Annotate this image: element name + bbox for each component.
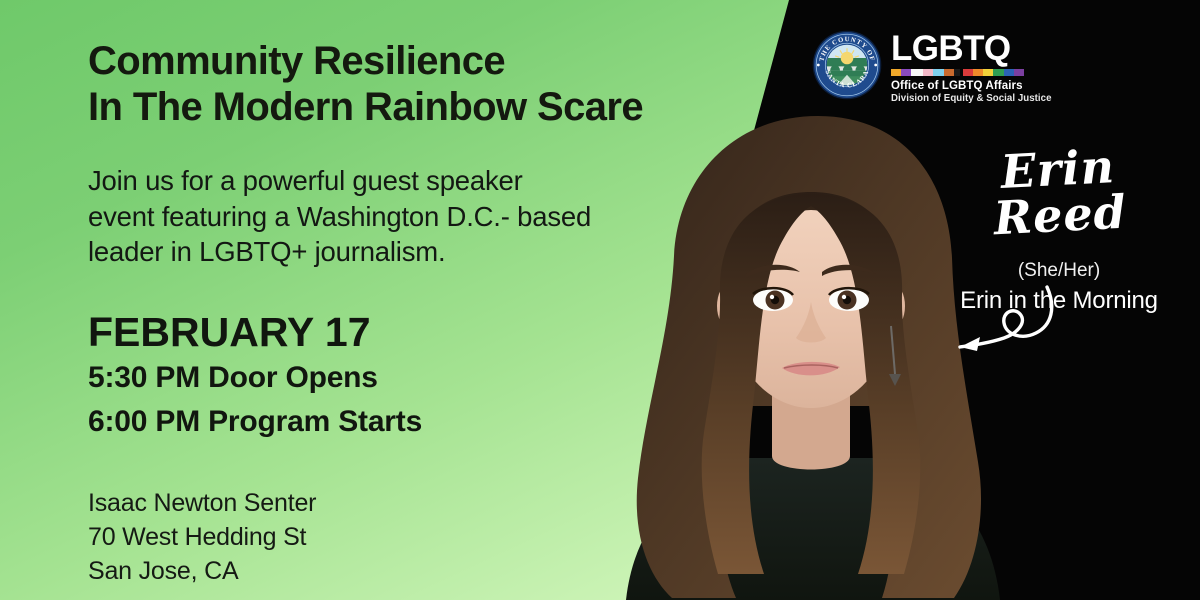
description-line-3: leader in LGBTQ+ journalism. — [88, 236, 445, 267]
swatch-pink — [923, 69, 933, 76]
swatch-yellow — [983, 69, 993, 76]
speaker-eye-left — [753, 288, 793, 311]
swatch-green — [993, 69, 1003, 76]
speaker-pronouns: (She/Her) — [930, 260, 1188, 282]
speaker-eye-right — [829, 288, 869, 311]
swatch-blue — [1004, 69, 1014, 76]
description-line-2: event featuring a Washington D.C.- based — [88, 201, 591, 232]
office-name: Office of LGBTQ Affairs — [891, 80, 1052, 92]
headline-line-1: Community Resilience — [88, 39, 505, 83]
santa-clara-county-seal-icon: THE COUNTY OF SANTA CLARA — [812, 30, 882, 100]
swatch-purple — [901, 69, 911, 76]
curved-arrow-icon — [944, 281, 1074, 367]
swatch-orange-2 — [973, 69, 983, 76]
logo-lockup: THE COUNTY OF SANTA CLARA LGBTQ — [812, 30, 1052, 104]
description-line-1: Join us for a powerful guest speaker — [88, 165, 523, 196]
swatch-brown — [944, 69, 954, 76]
division-name: Division of Equity & Social Justice — [891, 93, 1052, 104]
lgbtq-wordmark-group: LGBTQ Office of LGBTQ Affairs Division o… — [891, 30, 1052, 104]
pride-swatch-bar — [891, 69, 1024, 76]
swatch-lightblue — [933, 69, 943, 76]
speaker-name: Erin Reed — [928, 139, 1190, 244]
swatch-violet — [1014, 69, 1024, 76]
event-flyer: Community Resilience In The Modern Rainb… — [0, 0, 1200, 600]
swatch-orange — [891, 69, 901, 76]
swatch-white — [911, 69, 923, 76]
lgbtq-wordmark: LGBTQ — [891, 33, 1052, 65]
swatch-red — [963, 69, 973, 76]
